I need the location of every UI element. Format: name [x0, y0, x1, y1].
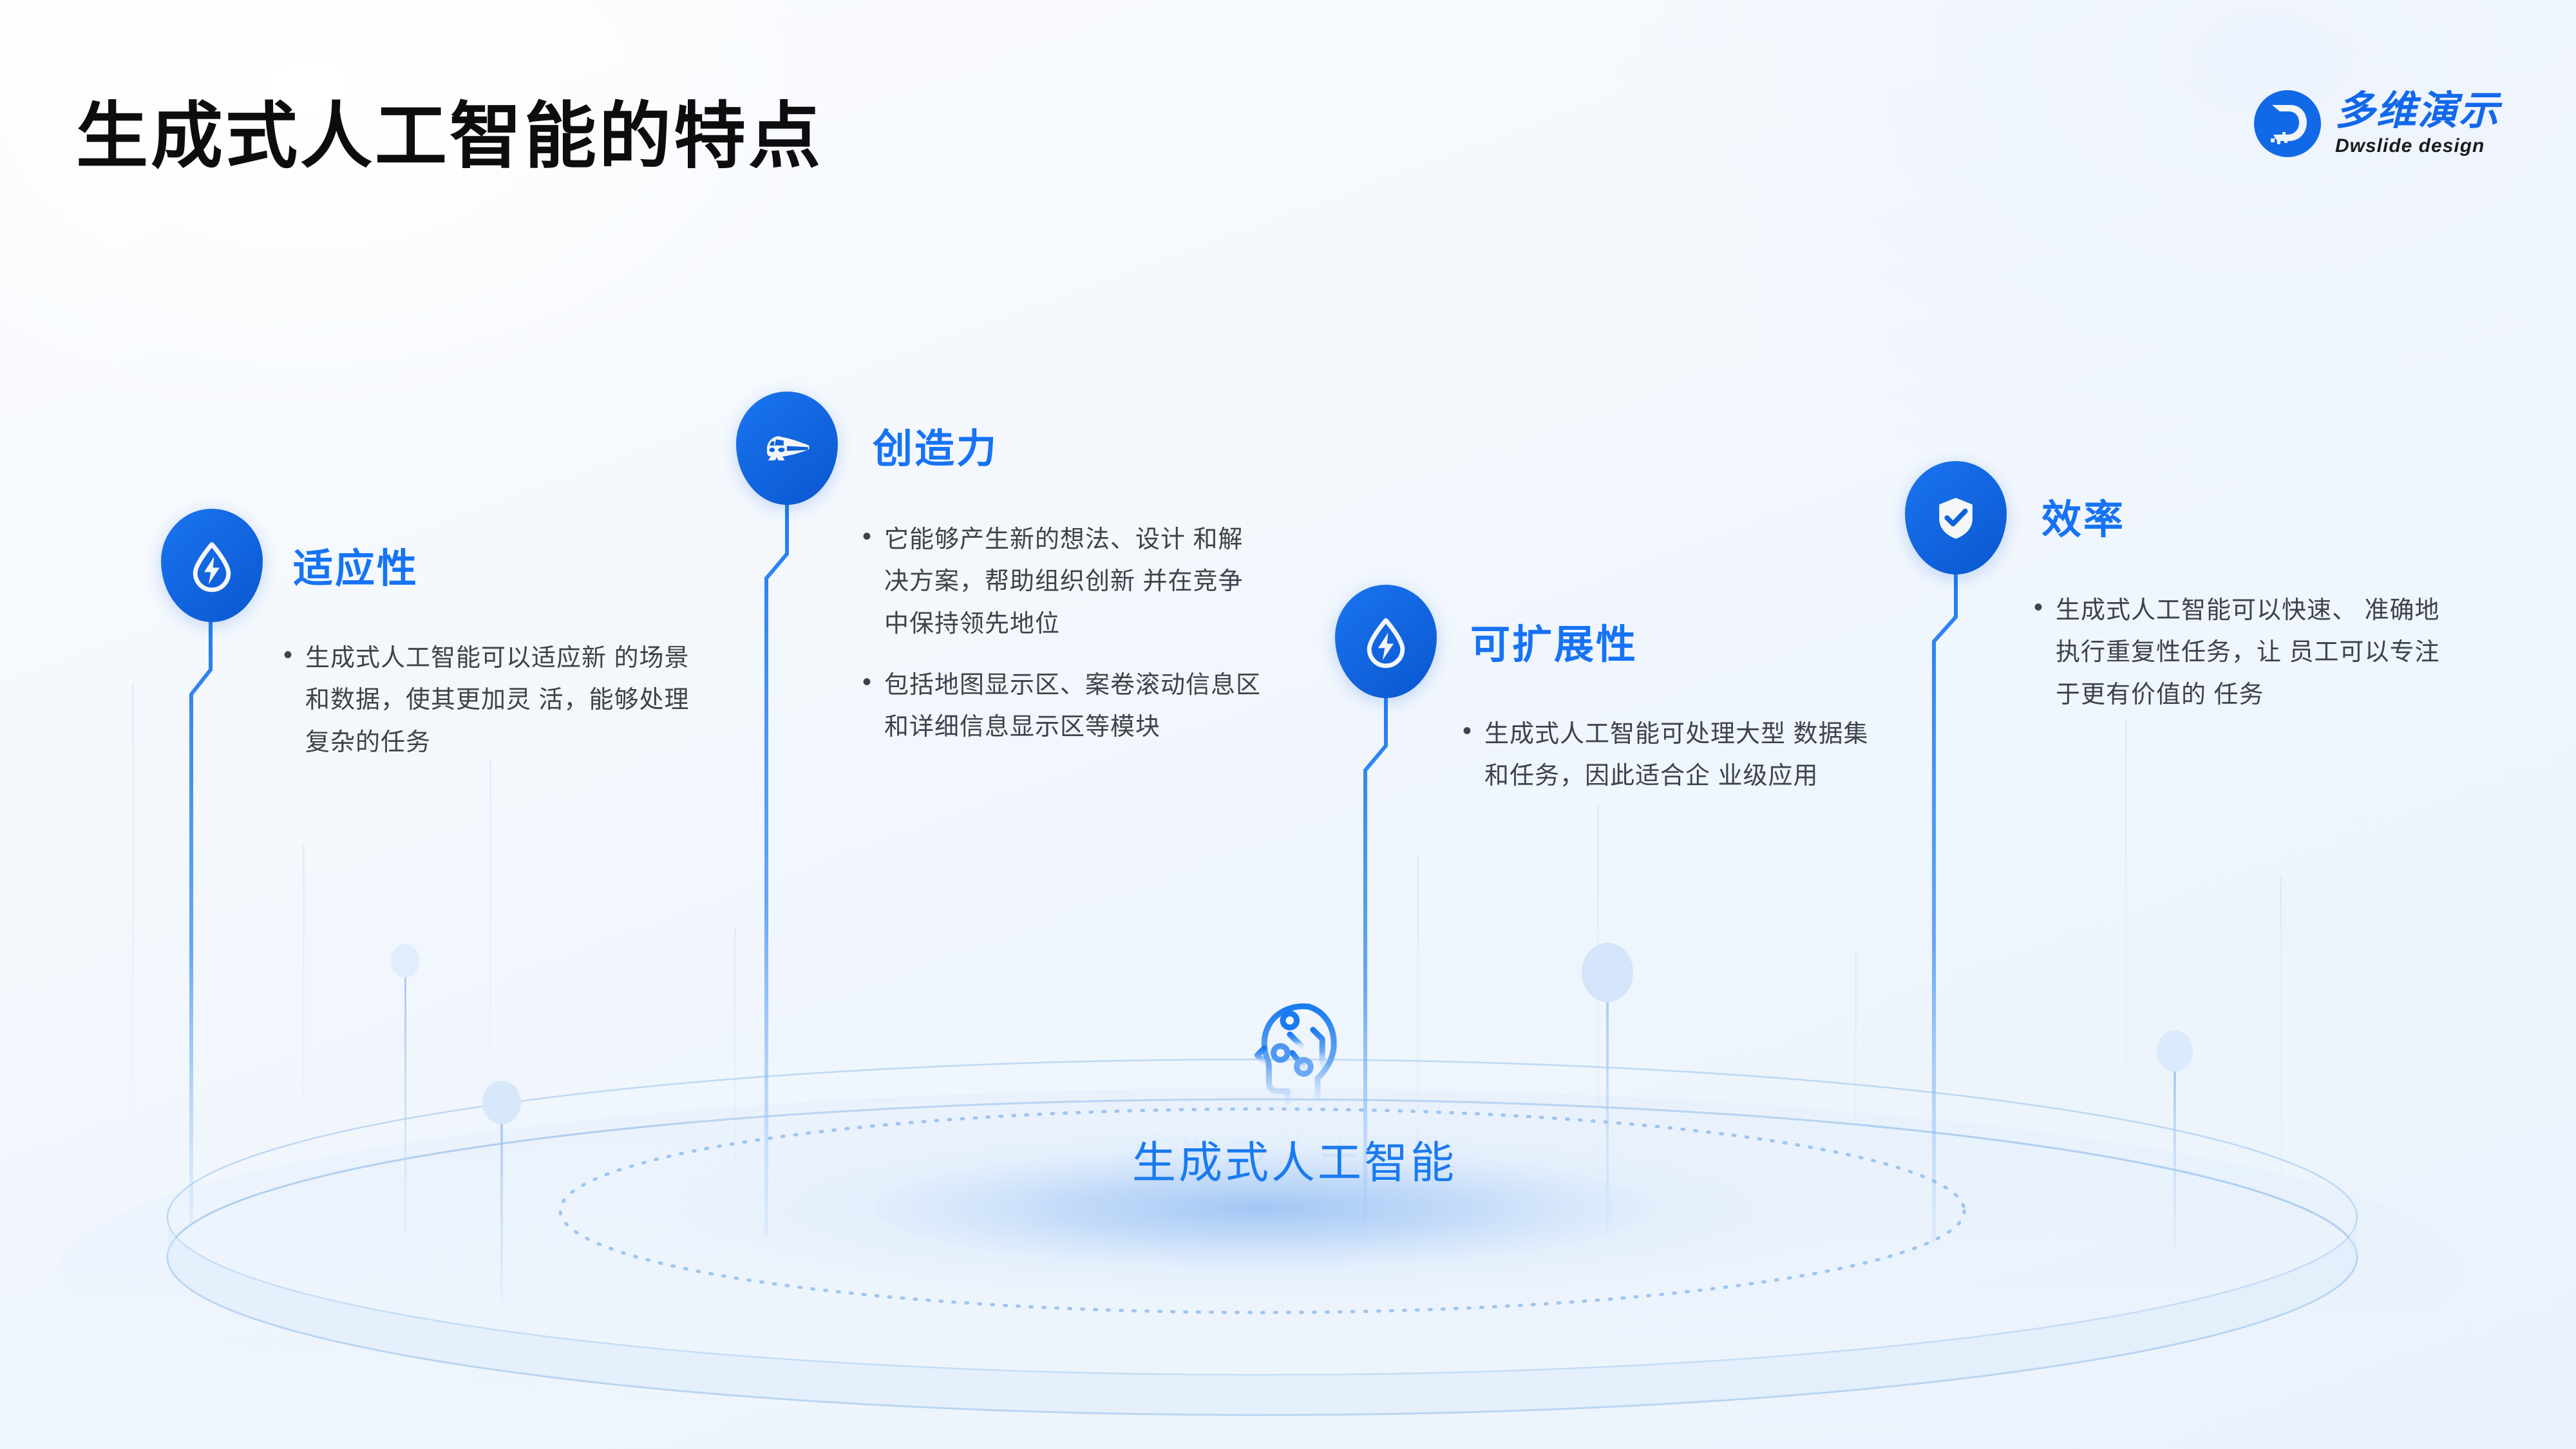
bullet-dot-icon: • [1463, 714, 1484, 798]
bullet-item: • 它能够产生新的想法、设计 和解决方案，帮助组织创新 并在竞争中保持领先地位 [862, 519, 1262, 645]
shield-check-icon [1928, 490, 1984, 545]
bullet-text: 生成式人工智能可以适应新 的场景和数据，使其更加灵 活，能够处理复杂的任务 [305, 638, 696, 764]
bullet-text: 生成式人工智能可处理大型 数据集和任务，因此适合企 业级应用 [1484, 714, 1875, 798]
node-heading-creativity: 创造力 [873, 416, 998, 474]
node-bullets-adaptability: • 生成式人工智能可以适应新 的场景和数据，使其更加灵 活，能够处理复杂的任务 [283, 638, 696, 764]
bullet-item: • 生成式人工智能可处理大型 数据集和任务，因此适合企 业级应用 [1463, 714, 1875, 798]
bullet-dot-icon: • [283, 638, 305, 764]
water-drop-lightning-icon [184, 538, 240, 593]
center-label-reflection: 生成式人工智能 [1095, 1112, 1494, 1176]
node-bullets-efficiency: • 生成式人工智能可以快速、 准确地执行重复性任务，让 员工可以专注于更有价值的… [2034, 590, 2452, 716]
bullet-item: • 生成式人工智能可以适应新 的场景和数据，使其更加灵 活，能够处理复杂的任务 [283, 638, 696, 764]
bullet-item: • 生成式人工智能可以快速、 准确地执行重复性任务，让 员工可以专注于更有价值的… [2034, 590, 2452, 716]
bullet-text: 它能够产生新的想法、设计 和解决方案，帮助组织创新 并在竞争中保持领先地位 [884, 519, 1262, 645]
bullet-text: 生成式人工智能可以快速、 准确地执行重复性任务，让 员工可以专注于更有价值的 任… [2056, 590, 2452, 716]
node-heading-adaptability: 适应性 [293, 536, 419, 594]
bullet-dot-icon: • [2034, 590, 2056, 716]
high-speed-train-icon [759, 421, 815, 476]
node-heading-scalability: 可扩展性 [1470, 612, 1638, 670]
connector-creativity [766, 502, 787, 1236]
node-bullets-scalability: • 生成式人工智能可处理大型 数据集和任务，因此适合企 业级应用 [1463, 714, 1875, 798]
bullet-dot-icon: • [862, 665, 884, 749]
bullet-dot-icon: • [862, 519, 884, 645]
node-heading-efficiency: 效率 [2041, 487, 2125, 545]
ai-brain-head-icon [1236, 995, 1352, 1111]
connector-adaptability [191, 618, 211, 1224]
node-bullets-creativity: • 它能够产生新的想法、设计 和解决方案，帮助组织创新 并在竞争中保持领先地位 … [862, 519, 1262, 749]
water-drop-lightning-icon [1358, 614, 1414, 669]
bullet-text: 包括地图显示区、案卷滚动信息区和详细信息显示区等模块 [884, 665, 1262, 749]
bullet-item: • 包括地图显示区、案卷滚动信息区和详细信息显示区等模块 [862, 665, 1262, 749]
connector-efficiency [1934, 572, 1956, 1243]
